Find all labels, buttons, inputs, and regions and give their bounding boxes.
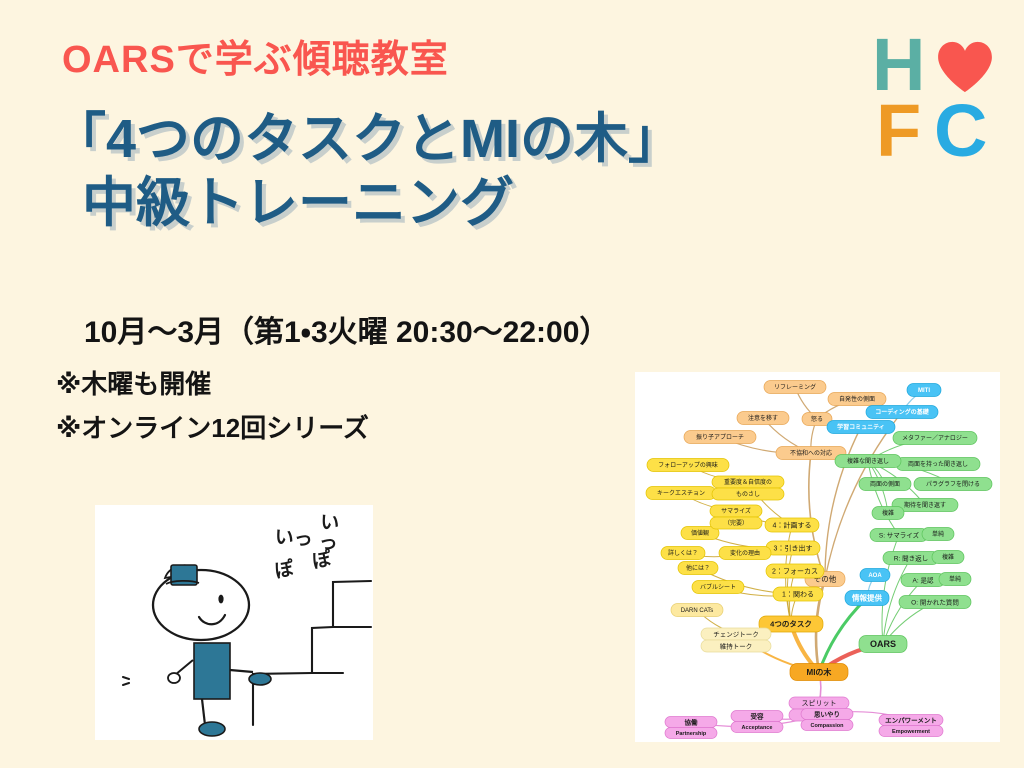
logo-letter-c: C [934,94,987,168]
mindmap-node-t1[interactable]: 1：関わる [773,587,823,601]
illustration-card: いっ いっ ぽ ぽ [95,505,373,740]
mindmap-node-reason[interactable]: 変化の理由 [719,547,771,560]
caption-part-1: いっ [274,528,313,551]
mindmap-node-fukyowa[interactable]: 不協和への対応 [776,447,846,460]
mindmap-node-label: S: サマライズ [879,530,920,539]
mindmap-node-label: Acceptance [742,725,773,731]
mindmap-node-label: MITI [918,388,930,394]
mindmap-node-label: パラグラフを閉ける [926,480,980,488]
mindmap-node-label: 変化の理由 [730,549,760,557]
mindmap-node-kuwa[interactable]: 詳しくは？ [661,547,705,560]
mindmap-node-label: 他には？ [686,564,710,572]
mindmap-node-label: 自発性の側面 [839,395,875,403]
mindmap-node-comm[interactable]: 学習コミュニティ [827,421,895,434]
mindmap-node-label: （完要） [724,519,748,527]
heart-icon [936,41,994,93]
mindmap-node-chui[interactable]: 注意を移す [737,412,789,425]
mindmap-node-ryomen2[interactable]: 両面の側面 [859,478,911,491]
mindmap-node-label: 思いやり [814,709,840,718]
mindmap-node-mi[interactable]: MIの木 [790,664,848,681]
mindmap-node-hoka[interactable]: 他には？ [678,562,718,575]
mindmap-node-label: 振り子アプローチ [696,433,744,441]
mindmap-node-label: コーディングの基礎 [875,408,930,416]
mindmap-node-r-kiki[interactable]: R: 聞き返し [883,552,939,565]
hfc-logo: H F C [872,28,998,168]
slide-canvas: OARSで学ぶ傾聴教室 「4つのタスクとMIの木」 中級トレーニング 10月〜3… [0,0,1024,768]
mindmap-node-label: メタファー／アナロジー [902,434,968,442]
mindmap-node-miti[interactable]: MITI [907,384,941,397]
mindmap-node-darn[interactable]: DARN CATs [671,604,723,617]
mindmap-node-label: リフレーミング [774,383,816,391]
mindmap-node-a-zenin[interactable]: A: 是認 [901,574,945,587]
mindmap-node-label: 重要度＆自信度の [724,478,772,486]
mindmap-node-label: キークエスチョン [657,490,705,497]
mindmap-node-label: エンパワーメント [885,715,937,724]
mindmap-node-ct1[interactable]: チェンジトーク [701,628,771,640]
mindmap-node-keyq[interactable]: キークエスチョン [646,487,716,500]
mindmap-node-follow[interactable]: フォローアップの興味 [647,459,729,472]
mindmap-node-t3[interactable]: 3：引き出す [766,541,820,555]
mindmap-node-label: 複雑 [882,509,894,517]
mindmap-node-jihatsu[interactable]: 自発性の側面 [828,393,886,406]
mindmap-node-p2a[interactable]: 受容 [731,711,783,722]
mi-tree-mindmap: MIの木4つのタスクOARSスピリット（PACE）その他情報提供1：関わる2：フ… [635,372,1000,742]
mindmap-node-meta[interactable]: メタファー／アナロジー [893,432,977,445]
mindmap-node-label: 3：引き出す [774,544,813,553]
mindmap-node-ryomen[interactable]: 両面を持った聞き返し [896,458,980,471]
mindmap-node-label: AOA [868,573,882,579]
note-line-1: ※木曜も開催 [56,362,369,406]
mindmap-node-fukuzatsu3[interactable]: 複雑 [932,551,964,564]
mindmap-node-label: 情報提供 [851,593,882,603]
mindmap-node-label: 学習コミュニティ [837,423,885,431]
mindmap-node-label: DARN CATs [681,608,714,614]
mindmap-node-fukuzatsu2[interactable]: 複雑 [872,507,904,520]
mindmap-node-label: Compassion [810,723,844,729]
mindmap-node-label: 不協和への対応 [790,449,832,457]
mindmap-node-label: 詳しくは？ [668,549,698,557]
mindmap-node-label: 2：フォーカス [772,568,818,576]
mindmap-node-p1a[interactable]: 協働 [665,717,717,728]
mindmap-node-label: 4つのタスク [770,619,812,629]
mindmap-node-p1b[interactable]: Partnership [665,728,717,739]
mindmap-node-p2b[interactable]: Acceptance [731,722,783,733]
mindmap-node-label: 複雑な聞き返し [847,457,889,465]
mindmap-node-label: 単純 [932,530,944,538]
page-title: 「4つのタスクとMIの木」 中級トレーニング [52,108,672,235]
mindmap-node-info[interactable]: 情報提供 [845,591,889,606]
mindmap-node-label: チェンジトーク [713,630,759,638]
mindmap-node-scale1[interactable]: 重要度＆自信度の [712,476,784,488]
mindmap-node-label: 価値観 [691,529,709,537]
title-line-2: 中級トレーニング [52,172,672,236]
mindmap-node-furiko[interactable]: 振り子アプローチ [684,431,756,444]
mindmap-node-o-open[interactable]: O: 開かれた質問 [899,596,971,609]
mindmap-node-label: サマライズ [721,507,751,515]
mindmap-node-label: 協働 [685,717,699,726]
mindmap-node-label: MIの木 [807,667,833,677]
mindmap-node-ct2[interactable]: 維持トーク [701,640,771,652]
mindmap-node-t4[interactable]: 4：計画する [765,518,819,532]
mindmap-node-oars[interactable]: OARS [859,636,907,653]
mindmap-node-p4b[interactable]: Empowerment [879,726,943,737]
mindmap-node-sum1[interactable]: サマライズ [710,505,762,517]
mindmap-node-p4a[interactable]: エンパワーメント [879,715,943,726]
schedule-text: 10月〜3月（第1・3火曜 20:30〜22:00） [84,307,609,351]
mindmap-node-coding[interactable]: コーディングの基礎 [866,406,938,419]
mindmap-node-s-sum[interactable]: S: サマライズ [870,529,928,542]
mindmap-node-p3b[interactable]: Compassion [801,720,853,731]
note-line-2: ※オンライン12回シリーズ [56,406,369,450]
notes-block: ※木曜も開催 ※オンライン12回シリーズ [56,362,369,450]
mindmap-node-label: Empowerment [892,729,930,735]
mindmap-node-spirit1[interactable]: スピリット [789,697,849,709]
mindmap-node-tanjun2[interactable]: 単純 [939,573,971,586]
mindmap-node-label: 複雑 [942,553,954,561]
mindmap-node-label: バブルシート [700,583,736,591]
mindmap-node-label: 1：関わる [782,591,814,599]
title-line-1: 「4つのタスクとMIの木」 [52,108,672,172]
mindmap-node-okoru[interactable]: 怒る [802,413,832,426]
caption-part-4: ぽ [311,550,333,573]
mindmap-node-fukuzatsu[interactable]: 複雑な聞き返し [835,455,901,468]
mindmap-node-label: OARS [870,639,896,649]
mindmap-node-label: 4：計画する [773,521,812,530]
mindmap-node-label: フォローアップの興味 [658,461,718,469]
mindmap-node-label: 注意を移す [748,414,778,422]
mindmap-node-label: 両面を持った聞き返し [908,460,968,468]
mindmap-card: MIの木4つのタスクOARSスピリット（PACE）その他情報提供1：関わる2：フ… [635,372,1000,742]
mindmap-node-sum2[interactable]: （完要） [710,517,762,529]
mindmap-node-label: A: 是認 [913,576,934,584]
mindmap-node-bubble[interactable]: バブルシート [692,581,744,594]
mindmap-node-label: 単純 [949,575,961,583]
mindmap-node-label: ものさし [736,491,760,498]
mindmap-node-refra[interactable]: リフレーミング [764,381,826,394]
mindmap-node-p3a[interactable]: 思いやり [801,709,853,720]
mindmap-node-label: Partnership [676,731,707,737]
logo-letter-f: F [876,94,921,168]
mindmap-node-label: O: 開かれた質問 [911,597,959,606]
mindmap-node-tanjun1[interactable]: 単純 [922,528,954,541]
mindmap-node-label: 期待を聞き返す [904,501,946,509]
mindmap-node-label: 受容 [751,711,765,720]
mindmap-node-label: 怒る [811,415,823,423]
mindmap-node-label: R: 聞き返し [894,554,928,562]
mindmap-node-label: 維持トーク [720,641,753,650]
mindmap-node-label: スピリット [802,700,837,708]
mindmap-node-t2[interactable]: 2：フォーカス [766,564,824,578]
caption-part-3: ぽ [273,560,295,583]
mindmap-node-aoa[interactable]: AOA [860,569,890,582]
mindmap-node-scale2[interactable]: ものさし [712,488,784,500]
kicker-heading: OARSで学ぶ傾聴教室 [62,28,449,83]
mindmap-node-label: 両面の側面 [870,480,900,488]
mindmap-node-para[interactable]: パラグラフを閉ける [914,478,992,491]
